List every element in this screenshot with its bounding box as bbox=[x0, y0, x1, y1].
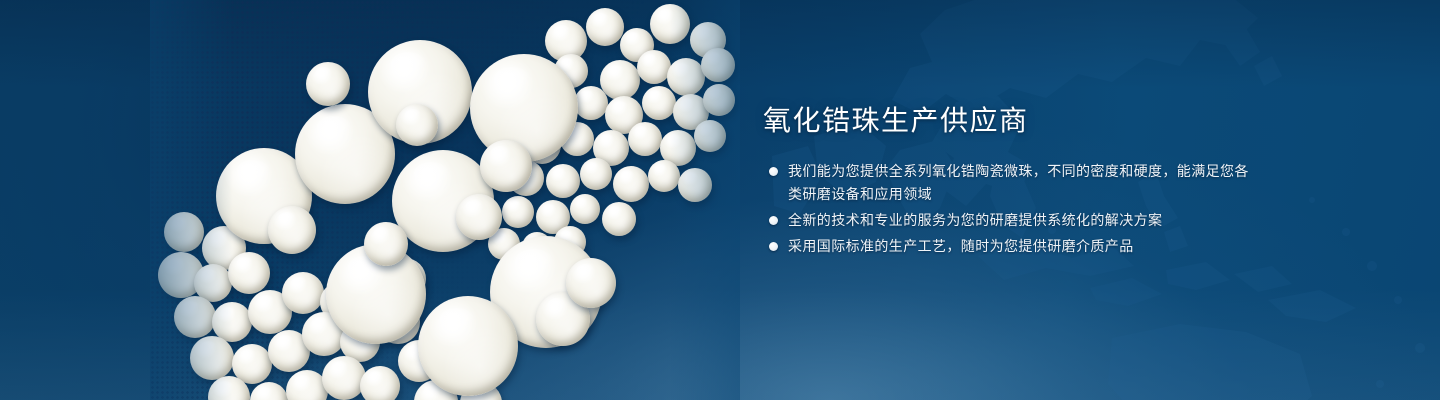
ceramic-bead bbox=[502, 196, 534, 228]
list-item: 采用国际标准的生产工艺，随时为您提供研磨介质产品 bbox=[763, 235, 1263, 258]
zirconia-beads-photo bbox=[150, 0, 740, 400]
page-title: 氧化锆珠生产供应商 bbox=[763, 104, 1263, 138]
filled-circle-bullet-icon bbox=[769, 167, 778, 176]
ceramic-bead bbox=[360, 366, 400, 400]
ceramic-bead bbox=[164, 212, 204, 252]
hero-banner: 氧化锆珠生产供应商 我们能为您提供全系列氧化锆陶瓷微珠，不同的密度和硬度，能满足… bbox=[0, 0, 1440, 400]
ceramic-bead bbox=[602, 202, 636, 236]
list-item-label: 采用国际标准的生产工艺，随时为您提供研磨介质产品 bbox=[788, 238, 1134, 254]
ceramic-bead bbox=[703, 84, 735, 116]
feature-list: 我们能为您提供全系列氧化锆陶瓷微珠，不同的密度和硬度，能满足您各类研磨设备和应用… bbox=[763, 160, 1263, 258]
ceramic-bead bbox=[650, 4, 690, 44]
ceramic-bead bbox=[228, 252, 270, 294]
ceramic-bead bbox=[566, 258, 616, 308]
filled-circle-bullet-icon bbox=[769, 242, 778, 251]
ceramic-bead bbox=[648, 160, 680, 192]
ceramic-bead bbox=[694, 120, 726, 152]
banner-copy: 氧化锆珠生产供应商 我们能为您提供全系列氧化锆陶瓷微珠，不同的密度和硬度，能满足… bbox=[763, 104, 1263, 261]
ceramic-bead bbox=[364, 222, 408, 266]
ceramic-bead bbox=[580, 158, 612, 190]
ceramic-bead bbox=[667, 58, 705, 96]
ceramic-bead bbox=[456, 194, 502, 240]
list-item-label: 全新的技术和专业的服务为您的研磨提供系统化的解决方案 bbox=[788, 212, 1162, 228]
ceramic-bead bbox=[322, 356, 366, 400]
ceramic-bead bbox=[570, 194, 600, 224]
ceramic-bead bbox=[678, 168, 712, 202]
list-item-label: 我们能为您提供全系列氧化锆陶瓷微珠，不同的密度和硬度，能满足您各类研磨设备和应用… bbox=[788, 163, 1249, 202]
ceramic-bead bbox=[628, 122, 662, 156]
list-item: 全新的技术和专业的服务为您的研磨提供系统化的解决方案 bbox=[763, 209, 1263, 232]
ceramic-bead bbox=[418, 296, 518, 396]
ceramic-bead bbox=[637, 50, 671, 84]
ceramic-bead bbox=[586, 8, 624, 46]
ceramic-bead bbox=[268, 206, 316, 254]
ceramic-bead bbox=[480, 140, 532, 192]
list-item: 我们能为您提供全系列氧化锆陶瓷微珠，不同的密度和硬度，能满足您各类研磨设备和应用… bbox=[763, 160, 1263, 206]
ceramic-bead bbox=[470, 54, 578, 162]
ceramic-bead bbox=[546, 164, 580, 198]
ceramic-bead bbox=[190, 336, 234, 380]
filled-circle-bullet-icon bbox=[769, 216, 778, 225]
ceramic-bead bbox=[574, 86, 608, 120]
ceramic-bead bbox=[306, 62, 350, 106]
ceramic-bead bbox=[642, 86, 676, 120]
ceramic-bead bbox=[613, 166, 649, 202]
ceramic-bead bbox=[174, 296, 216, 338]
ceramic-bead bbox=[396, 104, 438, 146]
ceramic-bead bbox=[701, 48, 735, 82]
ceramic-bead bbox=[282, 272, 324, 314]
